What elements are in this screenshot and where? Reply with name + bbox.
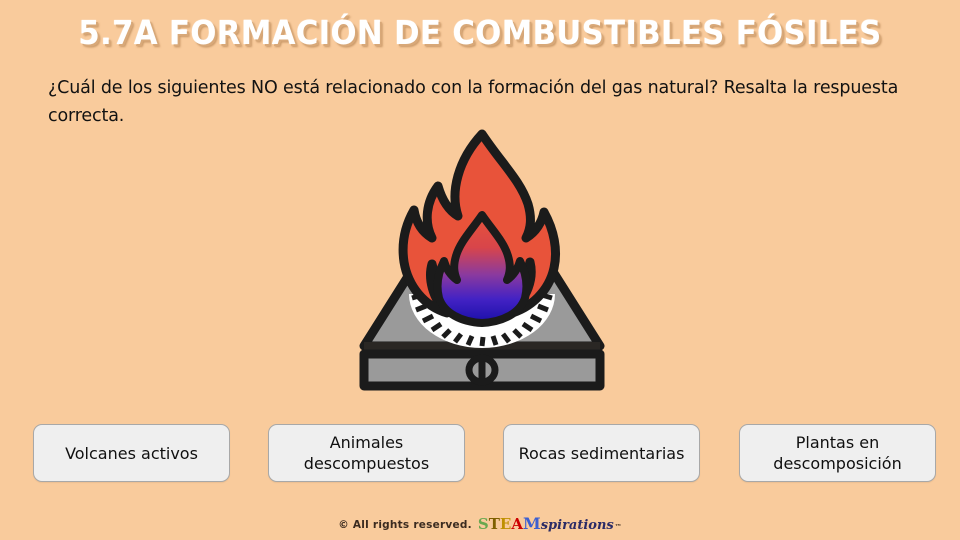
logo-letter-t: T xyxy=(489,517,500,531)
logo-wordmark-suffix: spirations xyxy=(541,519,614,533)
answer-option-label: Plantas endescomposición xyxy=(773,432,901,474)
answer-options: Volcanes activos Animalesdescompuestos R… xyxy=(0,424,960,486)
logo-letter-s: S xyxy=(478,517,489,531)
copyright-text: © All rights reserved. xyxy=(338,519,472,531)
gas-stove-icon xyxy=(352,118,612,398)
answer-option-label: Volcanes activos xyxy=(65,443,198,464)
logo-letter-a: A xyxy=(511,517,523,531)
page-title: 5.7A FORMACIÓN DE COMBUSTIBLES FÓSILES xyxy=(34,13,927,53)
logo-letter-m: M xyxy=(523,517,541,531)
slide-canvas: 5.7A FORMACIÓN DE COMBUSTIBLES FÓSILES ¿… xyxy=(0,0,960,540)
footer: © All rights reserved. S T E A M spirati… xyxy=(0,514,960,536)
answer-option-animales-descompuestos[interactable]: Animalesdescompuestos xyxy=(268,424,465,482)
answer-option-plantas-en-descomposicion[interactable]: Plantas endescomposición xyxy=(739,424,936,482)
answer-option-rocas-sedimentarias[interactable]: Rocas sedimentarias xyxy=(503,424,700,482)
logo-trademark-symbol: ™ xyxy=(615,520,622,534)
answer-option-label: Animalesdescompuestos xyxy=(304,432,429,474)
gas-stove-illustration xyxy=(352,118,612,398)
logo-letter-e: E xyxy=(500,517,511,531)
answer-option-volcanes-activos[interactable]: Volcanes activos xyxy=(33,424,230,482)
steamspirations-logo: S T E A M spirations ™ xyxy=(478,517,622,534)
answer-option-label: Rocas sedimentarias xyxy=(519,443,685,464)
